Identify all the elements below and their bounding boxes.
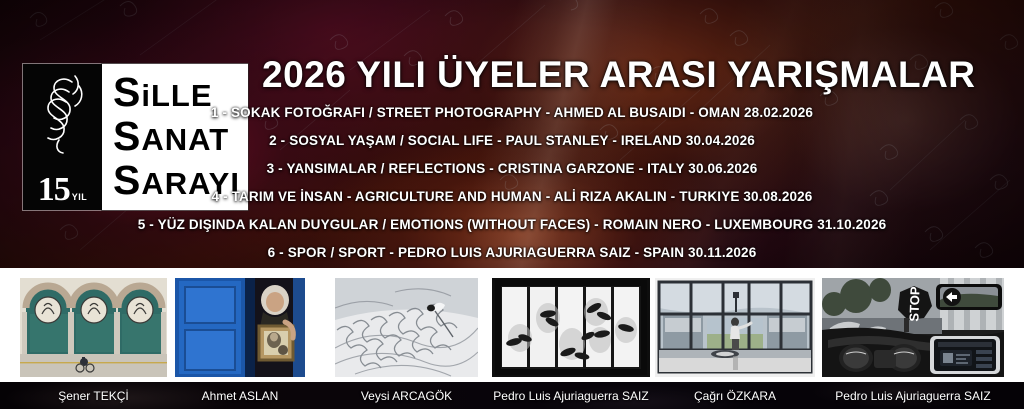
car-dashboard-stop-sign-photo[interactable]: STOP xyxy=(822,278,1004,377)
competition-item-5: 5 - YÜZ DIŞINDA KALAN DUYGULAR / EMOTION… xyxy=(12,218,1012,232)
poster-headline: 2026 YILI ÜYELER ARASI YARIŞMALAR xyxy=(262,56,962,95)
shoes-on-glass-photo[interactable] xyxy=(492,278,650,377)
caption-3: Veysi ARCAGÖK xyxy=(335,386,478,406)
woman-with-portrait-photo[interactable] xyxy=(175,278,305,377)
gallery-caption-bar: Şener TEKÇİ Ahmet ASLAN Veysi ARCAGÖK Pe… xyxy=(0,382,1024,409)
caption-1: Şener TEKÇİ xyxy=(20,386,167,406)
caption-5: Çağrı ÖZKARA xyxy=(655,386,815,406)
caption-2: Ahmet ASLAN xyxy=(175,386,305,406)
svg-text:STOP: STOP xyxy=(906,286,922,322)
caption-6: Pedro Luis Ajuriaguerra SAIZ xyxy=(822,386,1004,406)
snow-ski-tracks-photo[interactable] xyxy=(335,278,478,377)
competition-item-3: 3 - YANSIMALAR / REFLECTIONS - CRISTINA … xyxy=(12,162,1012,176)
competition-item-4: 4 - TARIM VE İNSAN - AGRICULTURE AND HUM… xyxy=(12,190,1012,204)
competition-item-6: 6 - SPOR / SPORT - PEDRO LUIS AJURIAGUER… xyxy=(12,246,1012,260)
gallery-strip: STOP xyxy=(0,268,1024,382)
child-at-window-photo[interactable] xyxy=(655,278,815,377)
caption-4: Pedro Luis Ajuriaguerra SAIZ xyxy=(492,386,650,406)
mosque-arches-photo[interactable] xyxy=(20,278,167,377)
poster-canvas: 15 YIL SiLLE SANAT SARAYI 2026 YILI ÜYEL… xyxy=(0,0,1024,409)
competition-item-1: 1 - SOKAK FOTOĞRAFI / STREET PHOTOGRAPHY… xyxy=(12,106,1012,120)
competition-item-2: 2 - SOSYAL YAŞAM / SOCIAL LIFE - PAUL ST… xyxy=(12,134,1012,148)
competition-list: 1 - SOKAK FOTOĞRAFI / STREET PHOTOGRAPHY… xyxy=(12,106,1012,274)
